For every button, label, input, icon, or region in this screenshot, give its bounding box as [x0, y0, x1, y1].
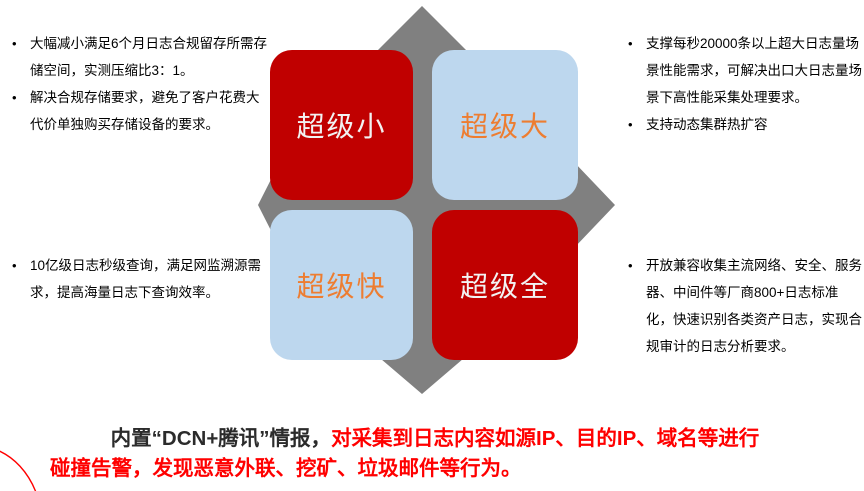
center-quadrant-graphic: 超级小 超级大 超级快 超级全 [255, 0, 620, 400]
bullet-marker-icon: • [620, 252, 646, 279]
tile-label: 超级快 [296, 265, 386, 305]
bullet-text: 支撑每秒20000条以上超大日志量场景性能需求，可解决出口大日志量场景下高性能采… [646, 30, 864, 111]
tile-label: 超级大 [460, 105, 550, 145]
caption-second-line: 碰撞告警，发现恶意外联、挖矿、垃圾邮件等行为。 [40, 454, 830, 484]
tile-super-fast[interactable]: 超级快 [270, 210, 413, 360]
list-item: • 支持动态集群热扩容 [620, 111, 864, 138]
list-item: • 开放兼容收集主流网络、安全、服务器、中间件等厂商800+日志标准化，快速识别… [620, 252, 864, 360]
tile-label: 超级小 [296, 105, 386, 145]
list-item: • 10亿级日志秒级查询，满足网监溯源需求，提高海量日志下查询效率。 [4, 252, 269, 306]
bullet-list-bottom-right: • 开放兼容收集主流网络、安全、服务器、中间件等厂商800+日志标准化，快速识别… [620, 252, 864, 360]
tile-label: 超级全 [460, 265, 550, 305]
bullet-text: 开放兼容收集主流网络、安全、服务器、中间件等厂商800+日志标准化，快速识别各类… [646, 252, 864, 360]
list-item: • 大幅减小满足6个月日志合规留存所需存储空间，实测压缩比3：1。 [4, 30, 269, 84]
tile-super-big[interactable]: 超级大 [432, 50, 578, 200]
bullet-text: 解决合规存储要求，避免了客户花费大代价单独购买存储设备的要求。 [30, 84, 269, 138]
bullet-marker-icon: • [620, 111, 646, 138]
caption-stress-text: 对采集到日志内容如源IP、目的IP、域名等进行 [331, 427, 759, 450]
bullet-list-top-right: • 支撑每秒20000条以上超大日志量场景性能需求，可解决出口大日志量场景下高性… [620, 30, 864, 138]
tile-super-full[interactable]: 超级全 [432, 210, 578, 360]
caption-lead-text: 内置“DCN+腾讯”情报， [111, 427, 331, 450]
list-item: • 支撑每秒20000条以上超大日志量场景性能需求，可解决出口大日志量场景下高性… [620, 30, 864, 111]
bullet-text: 大幅减小满足6个月日志合规留存所需存储空间，实测压缩比3：1。 [30, 30, 269, 84]
bullet-list-top-left: • 大幅减小满足6个月日志合规留存所需存储空间，实测压缩比3：1。 • 解决合规… [4, 30, 269, 138]
slide-canvas: • 大幅减小满足6个月日志合规留存所需存储空间，实测压缩比3：1。 • 解决合规… [0, 0, 864, 491]
bullet-marker-icon: • [620, 30, 646, 57]
bullet-marker-icon: • [4, 252, 30, 279]
tile-super-small[interactable]: 超级小 [270, 50, 413, 200]
bullet-text: 支持动态集群热扩容 [646, 111, 864, 138]
bullet-text: 10亿级日志秒级查询，满足网监溯源需求，提高海量日志下查询效率。 [30, 252, 269, 306]
bullet-list-bottom-left: • 10亿级日志秒级查询，满足网监溯源需求，提高海量日志下查询效率。 [4, 252, 269, 306]
bullet-marker-icon: • [4, 84, 30, 111]
bullet-marker-icon: • [4, 30, 30, 57]
list-item: • 解决合规存储要求，避免了客户花费大代价单独购买存储设备的要求。 [4, 84, 269, 138]
bottom-caption: 内置“DCN+腾讯”情报，对采集到日志内容如源IP、目的IP、域名等进行 碰撞告… [40, 424, 830, 484]
